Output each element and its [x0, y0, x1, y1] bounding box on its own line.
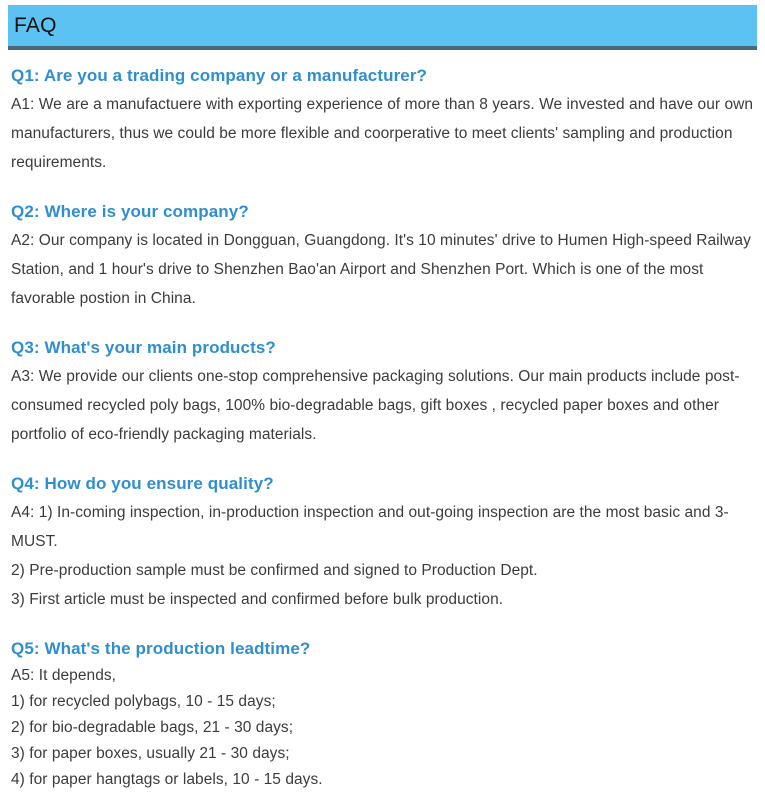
faq-answer-line: 3) First article must be inspected and c…: [11, 585, 755, 614]
faq-question: Q3: What's your main products?: [11, 335, 755, 360]
faq-answer: A5: It depends,1) for recycled polybags,…: [11, 663, 755, 793]
faq-question: Q4: How do you ensure quality?: [11, 471, 755, 496]
faq-answer-line: A2: Our company is located in Dongguan, …: [11, 226, 755, 313]
faq-item: Q1: Are you a trading company or a manuf…: [11, 63, 755, 177]
faq-answer-line: 2) Pre-production sample must be confirm…: [11, 556, 755, 585]
faq-question: Q5: What's the production leadtime?: [11, 636, 755, 661]
faq-answer-line: A1: We are a manufactuere with exporting…: [11, 90, 755, 177]
faq-item: Q5: What's the production leadtime?A5: I…: [11, 636, 755, 793]
faq-answer-line: 4) for paper hangtags or labels, 10 - 15…: [11, 767, 755, 793]
faq-answer-line: 2) for bio-degradable bags, 21 - 30 days…: [11, 715, 755, 741]
faq-answer-line: 1) for recycled polybags, 10 - 15 days;: [11, 689, 755, 715]
faq-answer-line: 3) for paper boxes, usually 21 - 30 days…: [11, 741, 755, 767]
faq-answer: A2: Our company is located in Dongguan, …: [11, 226, 755, 313]
faq-list: Q1: Are you a trading company or a manuf…: [11, 63, 755, 793]
faq-page: FAQ Q1: Are you a trading company or a m…: [0, 0, 765, 748]
faq-answer-line: A4: 1) In-coming inspection, in-producti…: [11, 498, 755, 556]
faq-item: Q3: What's your main products?A3: We pro…: [11, 335, 755, 449]
page-title: FAQ: [14, 13, 57, 39]
faq-answer: A4: 1) In-coming inspection, in-producti…: [11, 498, 755, 614]
faq-answer: A1: We are a manufactuere with exporting…: [11, 90, 755, 177]
faq-answer-line: A5: It depends,: [11, 663, 755, 689]
faq-item: Q2: Where is your company?A2: Our compan…: [11, 199, 755, 313]
faq-answer-line: A3: We provide our clients one-stop comp…: [11, 362, 755, 449]
faq-answer: A3: We provide our clients one-stop comp…: [11, 362, 755, 449]
faq-item: Q4: How do you ensure quality?A4: 1) In-…: [11, 471, 755, 614]
faq-question: Q2: Where is your company?: [11, 199, 755, 224]
faq-question: Q1: Are you a trading company or a manuf…: [11, 63, 755, 88]
faq-banner: FAQ: [8, 5, 757, 50]
